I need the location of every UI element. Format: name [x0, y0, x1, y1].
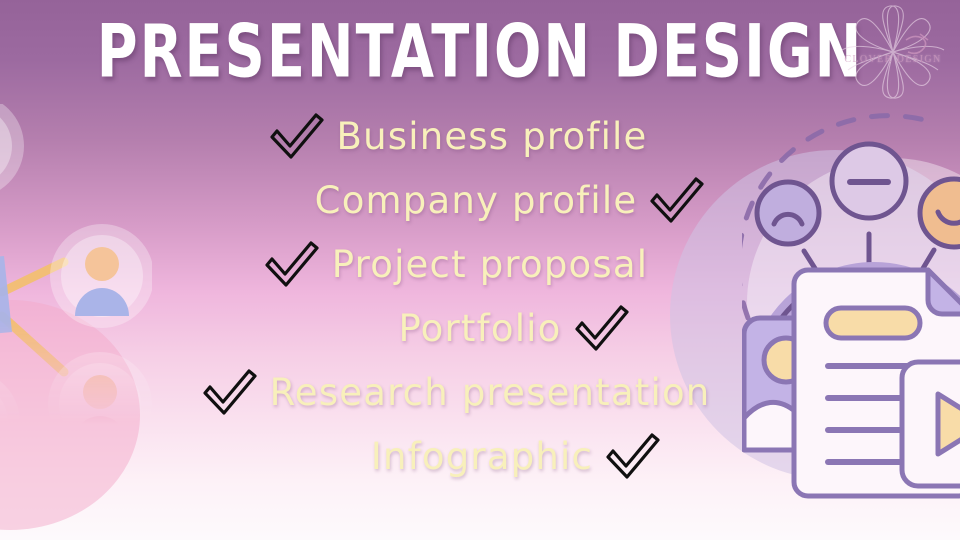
clover-design-logo: CLOVER DESIGN — [832, 0, 954, 104]
checklist-item-label: Business profile — [337, 115, 648, 158]
checklist-item-label: Portfolio — [398, 307, 561, 350]
checklist-item: Business profile — [269, 104, 648, 168]
checklist-item: Infographic — [371, 424, 661, 488]
checklist-item: Portfolio — [398, 296, 629, 360]
checkmark-icon — [269, 110, 325, 162]
page-title: PRESENTATION DESIGN — [0, 8, 960, 94]
checklist-item-label: Research presentation — [270, 371, 711, 414]
checklist-item-label: Infographic — [371, 435, 593, 478]
checkmark-icon — [202, 366, 258, 418]
checklist-item: Project proposal — [264, 232, 648, 296]
slide-canvas: PRESENTATION DESIGN CLOVE — [0, 0, 960, 540]
checkmark-icon — [649, 174, 705, 226]
checkmark-icon — [574, 302, 630, 354]
clover-icon — [832, 0, 954, 104]
checklist-item: Research presentation — [202, 360, 711, 424]
checklist-item: Company profile — [315, 168, 706, 232]
logo-text: CLOVER DESIGN — [832, 54, 954, 65]
checkmark-icon — [264, 238, 320, 290]
checkmark-icon — [605, 430, 661, 482]
checklist-item-label: Project proposal — [332, 243, 648, 286]
services-checklist: Business profileCompany profile Project … — [0, 104, 960, 488]
checklist-item-label: Company profile — [315, 179, 638, 222]
